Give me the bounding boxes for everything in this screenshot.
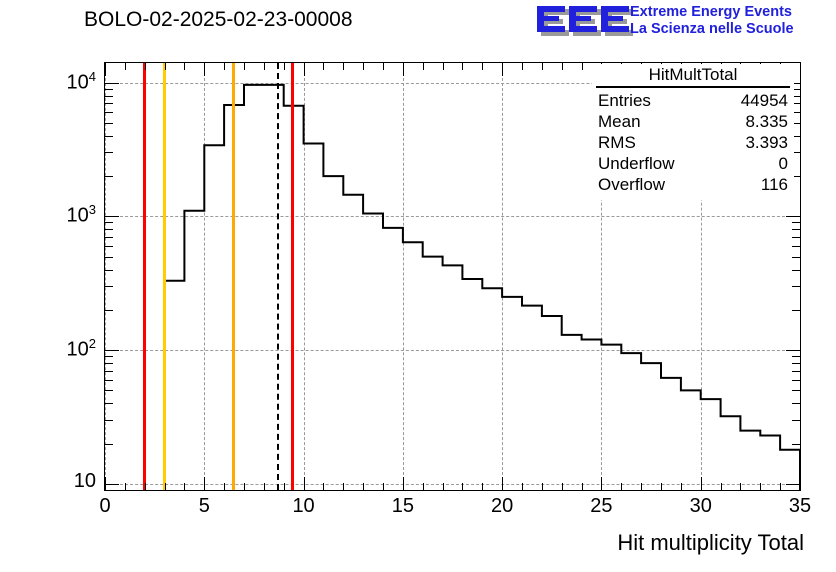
y-tick-right-30 [792,420,800,421]
y-tick-right-600 [792,246,800,247]
y-tick-right-90 [792,356,800,357]
eee-logo-line2: La Scienza nelle Scuole [630,21,794,38]
x-tick-label-0: 0 [80,495,130,518]
x-tick-16 [423,483,424,490]
x-tick-label-5: 5 [179,495,229,518]
eee-logo-text: Extreme Energy Events La Scienza nelle S… [630,4,794,38]
root-canvas: { "title": "BOLO-02-2025-02-23-00008", "… [0,0,836,572]
x-tick-top-21 [522,63,523,70]
eee-logo-line1: Extreme Energy Events [630,4,794,21]
y-tick-200 [105,310,113,311]
y-tick-8000 [105,96,113,97]
x-tick-28 [661,483,662,490]
y-tick-right-900 [792,222,800,223]
x-tick-top-24 [582,63,583,70]
x-tick-top-13 [363,63,364,70]
stats-value: 0 [779,153,788,174]
marker-line-yellow-high [232,63,235,490]
x-tick-10 [304,477,305,490]
x-tick-9 [284,483,285,490]
x-tick-top-10 [304,63,305,76]
stats-row: Underflow0 [592,153,794,174]
stats-value: 8.335 [745,111,788,132]
x-tick-23 [562,483,563,490]
x-tick-top-19 [482,63,483,70]
y-tick-9 [105,490,113,491]
y-tick-500 [105,257,113,258]
stats-row: Mean8.335 [592,111,794,132]
y-tick-3000 [105,152,113,153]
y-tick-90 [105,356,113,357]
x-tick-3 [165,483,166,490]
x-tick-top-7 [244,63,245,70]
y-tick-right-50 [792,390,800,391]
x-tick-11 [323,483,324,490]
y-tick-label-1000: 103 [0,202,96,228]
x-tick-top-6 [224,63,225,70]
y-tick-label-10000: 104 [0,69,96,95]
y-tick-right-60 [792,380,800,381]
y-tick-2000 [105,176,113,177]
x-tick-label-30: 30 [676,495,726,518]
x-tick-34 [780,483,781,490]
x-tick-8 [264,483,265,490]
x-tick-label-35: 35 [775,495,825,518]
x-tick-top-14 [383,63,384,70]
eee-logo: Extreme Energy Events La Scienza nelle S… [536,2,834,42]
x-axis-title: Hit multiplicity Total [617,530,804,556]
x-tick-32 [740,483,741,490]
eee-logo-mark-icon [536,4,634,40]
x-tick-top-12 [343,63,344,70]
y-tick-label-100: 102 [0,336,96,362]
x-tick-35 [800,477,801,490]
y-tick-20 [105,444,113,445]
x-tick-top-35 [800,63,801,76]
y-tick-70 [105,371,113,372]
stats-key: Overflow [598,174,665,195]
y-tick-right-70 [792,371,800,372]
y-tick-60 [105,380,113,381]
x-tick-20 [502,477,503,490]
x-tick-25 [601,477,602,490]
y-tick-10 [105,484,119,485]
marker-line-red-low [143,63,146,490]
stats-rows: Entries44954Mean8.335RMS3.393Underflow0O… [592,90,794,195]
y-tick-900 [105,222,113,223]
x-tick-24 [582,483,583,490]
stats-key: Mean [598,111,641,132]
x-tick-21 [522,483,523,490]
x-tick-6 [224,483,225,490]
x-tick-19 [482,483,483,490]
x-tick-top-11 [323,63,324,70]
x-tick-top-0 [105,63,106,76]
x-tick-30 [701,477,702,490]
y-tick-1000 [105,216,119,217]
stats-key: RMS [598,132,636,153]
x-tick-22 [542,483,543,490]
stats-row: Entries44954 [592,90,794,111]
stats-row: Overflow116 [592,174,794,195]
x-tick-top-15 [403,63,404,76]
x-tick-top-20 [502,63,503,76]
y-tick-right-700 [792,237,800,238]
y-tick-right-200 [792,310,800,311]
y-tick-5000 [105,123,113,124]
x-tick-18 [462,483,463,490]
stats-value: 44954 [741,90,788,111]
y-tick-right-300 [792,286,800,287]
y-tick-30 [105,420,113,421]
stats-title: HitMultTotal [596,65,790,88]
y-tick-right-20 [792,444,800,445]
x-tick-13 [363,483,364,490]
y-tick-50 [105,390,113,391]
x-tick-12 [343,483,344,490]
x-tick-top-1 [125,63,126,70]
x-tick-2 [145,483,146,490]
x-tick-14 [383,483,384,490]
page-title: BOLO-02-2025-02-23-00008 [84,8,353,32]
x-tick-7 [244,483,245,490]
x-tick-top-9 [284,63,285,70]
y-tick-800 [105,229,113,230]
y-tick-40 [105,403,113,404]
y-tick-right-500 [792,257,800,258]
y-tick-right-80 [792,363,800,364]
stats-key: Entries [598,90,651,111]
marker-line-yellow-low [163,63,166,490]
x-tick-label-10: 10 [279,495,329,518]
y-tick-right-10 [786,484,800,485]
x-tick-top-8 [264,63,265,70]
x-tick-29 [681,483,682,490]
x-tick-top-17 [443,63,444,70]
y-tick-right-1000 [786,216,800,217]
y-tick-right-100 [786,350,800,351]
y-tick-100 [105,350,119,351]
y-tick-label-10: 10 [0,470,96,493]
y-tick-7000 [105,103,113,104]
x-tick-33 [760,483,761,490]
stats-key: Underflow [598,153,675,174]
x-tick-top-5 [204,63,205,76]
x-tick-top-22 [542,63,543,70]
x-tick-label-20: 20 [477,495,527,518]
y-tick-400 [105,270,113,271]
y-tick-10000 [105,83,119,84]
x-tick-27 [641,483,642,490]
x-tick-top-3 [165,63,166,70]
y-tick-300 [105,286,113,287]
x-tick-top-2 [145,63,146,70]
y-tick-right-40 [792,403,800,404]
x-tick-5 [204,477,205,490]
x-tick-4 [184,483,185,490]
y-tick-9000 [105,89,113,90]
y-tick-600 [105,246,113,247]
marker-line-mean-dashed [277,63,279,490]
y-tick-80 [105,363,113,364]
stats-box: HitMultTotal Entries44954Mean8.335RMS3.3… [592,64,794,200]
x-tick-label-15: 15 [378,495,428,518]
y-tick-4000 [105,136,113,137]
x-tick-1 [125,483,126,490]
stats-row: RMS3.393 [592,132,794,153]
x-tick-31 [721,483,722,490]
x-tick-label-25: 25 [576,495,626,518]
y-tick-right-800 [792,229,800,230]
y-tick-right-400 [792,270,800,271]
marker-line-red-high [291,63,294,490]
x-tick-17 [443,483,444,490]
y-tick-700 [105,237,113,238]
x-tick-top-4 [184,63,185,70]
stats-value: 116 [761,174,788,195]
stats-value: 3.393 [745,132,788,153]
x-tick-top-18 [462,63,463,70]
y-tick-right-9 [792,490,800,491]
x-tick-26 [621,483,622,490]
x-tick-top-23 [562,63,563,70]
x-tick-15 [403,477,404,490]
y-tick-6000 [105,112,113,113]
x-tick-top-16 [423,63,424,70]
